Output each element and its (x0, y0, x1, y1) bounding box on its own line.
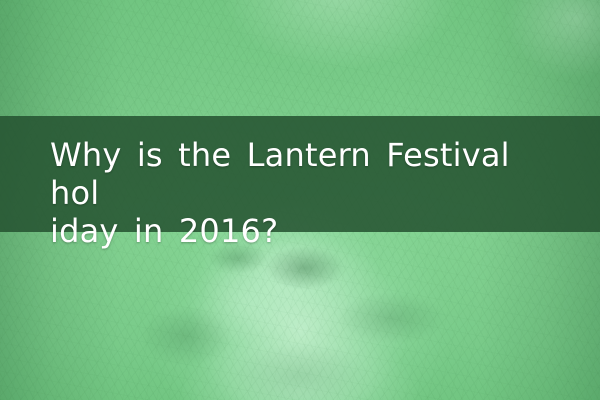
caption-band: Why is the Lantern Festival hol iday in … (0, 116, 600, 232)
title-card: Why is the Lantern Festival hol iday in … (0, 0, 600, 400)
caption-title: Why is the Lantern Festival hol iday in … (50, 136, 560, 250)
